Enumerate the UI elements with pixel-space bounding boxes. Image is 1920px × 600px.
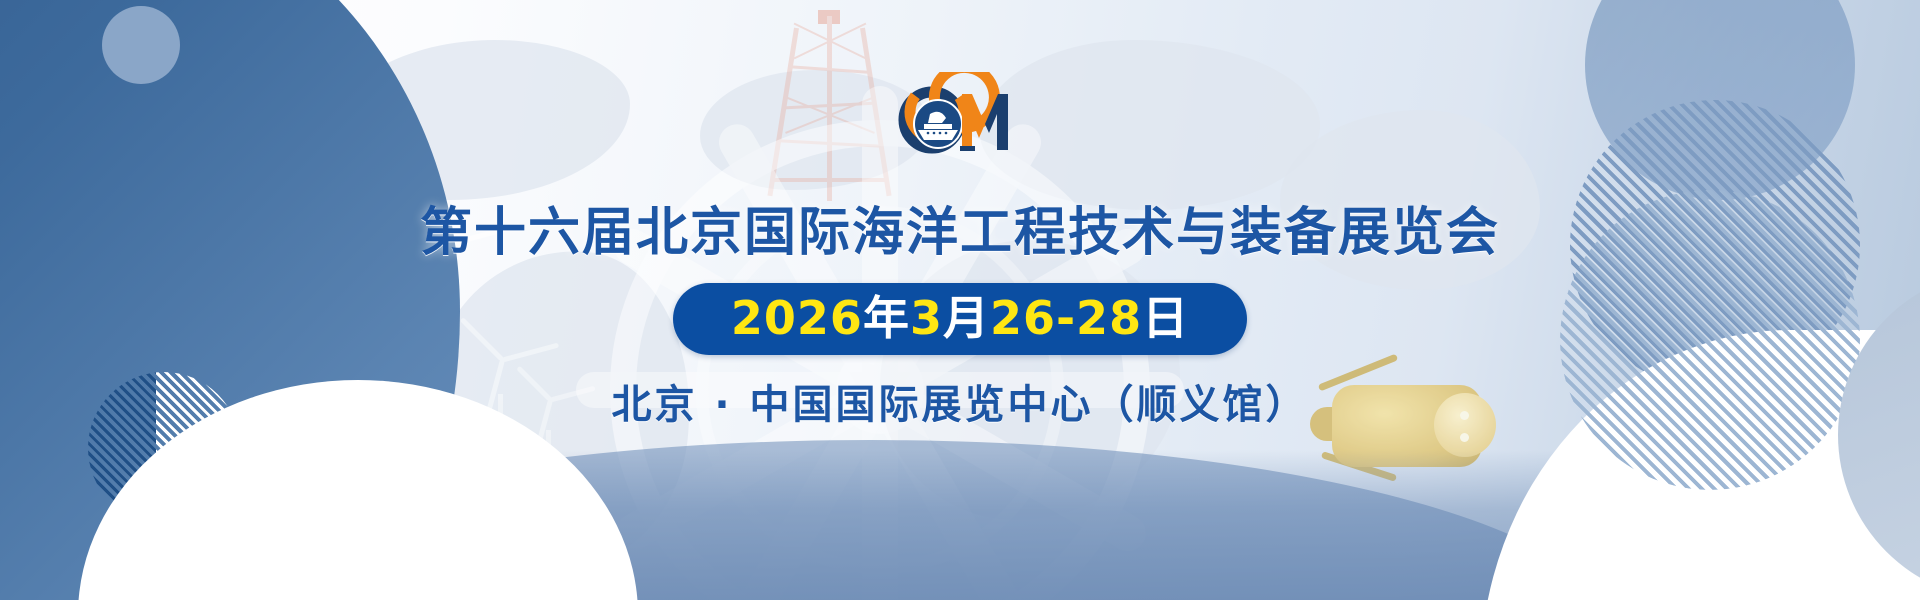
date-day-unit: 日 [1142, 291, 1189, 345]
event-banner: 第十六届北京国际海洋工程技术与装备展览会 2026年3月26-28日 北京 · … [0, 0, 1920, 600]
date-year: 2026 [731, 291, 863, 345]
page-title: 第十六届北京国际海洋工程技术与装备展览会 [0, 190, 1920, 265]
date-badge: 2026年3月26-28日 [673, 283, 1247, 355]
date-row: 2026年3月26-28日 [0, 283, 1920, 355]
venue-text: 北京 · 中国国际展览中心（顺义馆） [0, 372, 1920, 430]
banner-content: 第十六届北京国际海洋工程技术与装备展览会 2026年3月26-28日 北京 · … [0, 0, 1920, 600]
date-days: 26-28 [990, 291, 1142, 345]
date-month-unit: 月 [943, 291, 990, 345]
date-year-unit: 年 [863, 291, 910, 345]
date-month: 3 [910, 291, 943, 345]
